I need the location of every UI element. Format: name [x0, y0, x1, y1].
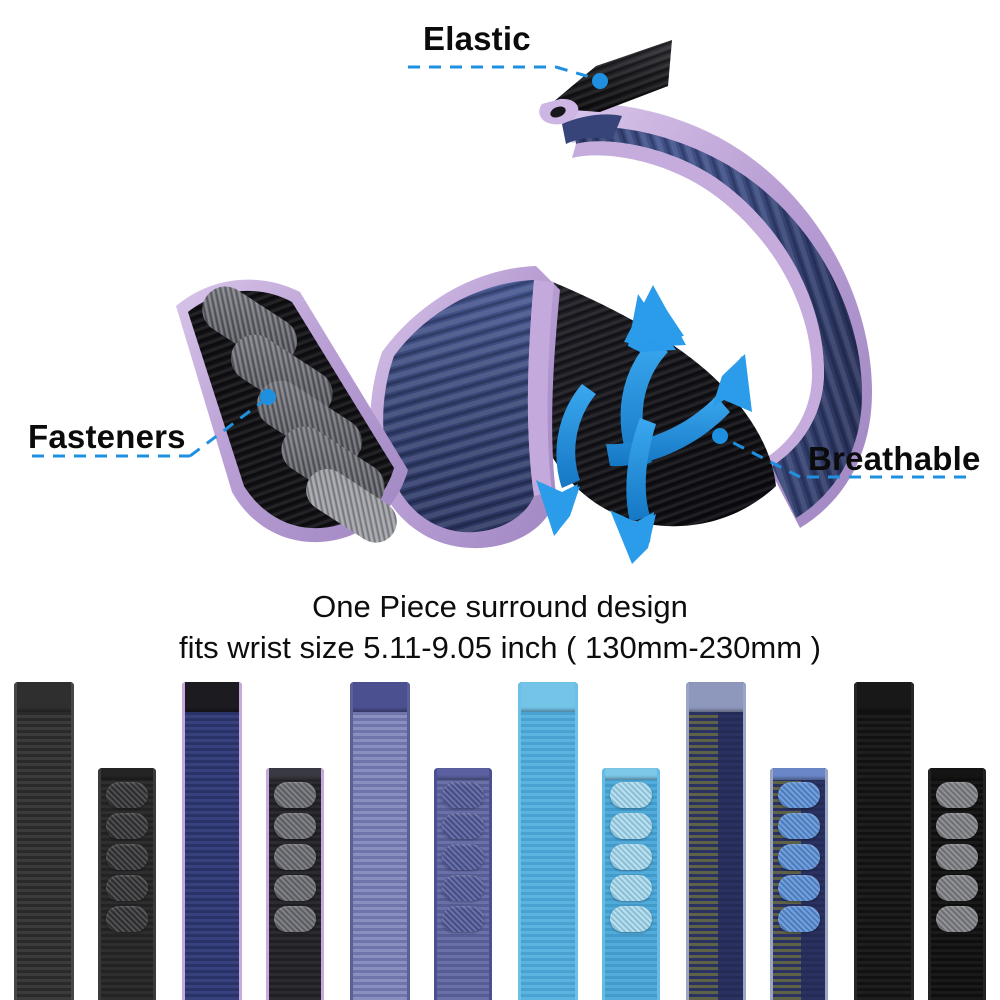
swatch-fastener-pad — [442, 844, 484, 870]
swatch-fastener-pad — [274, 782, 316, 808]
callout-dot-fasteners — [260, 389, 276, 405]
swatch-fastener-pad — [274, 875, 316, 901]
swatch-fastener-pad — [936, 813, 978, 839]
swatch-fastener-pad — [442, 906, 484, 932]
callout-label-fasteners: Fasteners — [28, 420, 186, 453]
swatch-tip — [434, 768, 492, 780]
swatch-fastener-pad — [610, 875, 652, 901]
product-infographic: Elastic Fasteners Breathable One Piece s… — [0, 0, 1000, 1000]
swatch-trim-left — [770, 768, 773, 1000]
color-swatch-sky-blue-back[interactable] — [602, 768, 660, 1000]
swatch-fastener-pad — [610, 813, 652, 839]
swatch-fastener-pads — [106, 782, 148, 937]
color-swatch-dark-gray-front[interactable] — [14, 682, 74, 1000]
swatch-tip — [518, 682, 578, 712]
swatch-fastener-pad — [274, 906, 316, 932]
swatch-fastener-pads — [442, 782, 484, 937]
color-swatch-navy-lavender-front[interactable] — [182, 682, 242, 1000]
swatch-trim-right — [407, 682, 410, 1000]
swatch-tip — [350, 682, 410, 712]
swatch-tip — [602, 768, 660, 780]
color-swatch-black-front[interactable] — [854, 682, 914, 1000]
swatch-fastener-pads — [610, 782, 652, 937]
swatch-weave-texture — [14, 682, 74, 1000]
color-swatch-olive-navy-back[interactable] — [770, 768, 828, 1000]
swatch-fastener-pad — [778, 875, 820, 901]
callout-label-elastic: Elastic — [423, 22, 531, 55]
callout-label-breathable: Breathable — [808, 442, 981, 475]
swatch-trim-right — [575, 682, 578, 1000]
swatch-fastener-pad — [106, 813, 148, 839]
swatch-trim-right — [153, 768, 156, 1000]
swatch-trim-right — [825, 768, 828, 1000]
color-swatch-olive-navy-front[interactable] — [686, 682, 746, 1000]
swatch-fastener-pad — [442, 875, 484, 901]
swatch-tip — [770, 768, 828, 780]
swatch-trim-left — [602, 768, 605, 1000]
swatch-trim-left — [518, 682, 521, 1000]
hero-product-photo: Elastic Fasteners Breathable — [0, 0, 1000, 665]
swatch-tip — [182, 682, 242, 712]
swatch-trim-left — [266, 768, 269, 1000]
callout-dot-elastic — [592, 73, 608, 89]
swatch-fastener-pad — [106, 782, 148, 808]
swatch-weave-texture — [350, 682, 410, 1000]
swatch-trim-left — [928, 768, 931, 1000]
swatch-fastener-pad — [610, 844, 652, 870]
swatch-fastener-pad — [274, 813, 316, 839]
swatch-trim-left — [434, 768, 437, 1000]
swatch-fastener-pad — [936, 875, 978, 901]
callout-leader-elastic — [408, 67, 600, 80]
swatch-fastener-pad — [106, 875, 148, 901]
swatch-trim-right — [911, 682, 914, 1000]
caption-block: One Piece surround design fits wrist siz… — [0, 586, 1000, 668]
swatch-tip — [98, 768, 156, 780]
color-swatch-periwinkle-back[interactable] — [434, 768, 492, 1000]
color-swatch-periwinkle-front[interactable] — [350, 682, 410, 1000]
color-swatch-strip — [0, 665, 1000, 1000]
swatch-fastener-pad — [106, 906, 148, 932]
swatch-fastener-pads — [778, 782, 820, 937]
swatch-trim-right — [983, 768, 986, 1000]
swatch-fastener-pads — [936, 782, 978, 937]
swatch-fastener-pad — [106, 844, 148, 870]
caption-line-2: fits wrist size 5.11-9.05 inch ( 130mm-2… — [0, 627, 1000, 668]
swatch-fastener-pad — [936, 906, 978, 932]
swatch-fastener-pad — [442, 782, 484, 808]
swatch-fastener-pad — [936, 844, 978, 870]
color-swatch-black-back[interactable] — [928, 768, 986, 1000]
swatch-weave-texture — [182, 682, 242, 1000]
swatch-trim-right — [239, 682, 242, 1000]
band-middle-segment — [370, 266, 560, 548]
swatch-tip — [928, 768, 986, 780]
callout-dot-breathable — [712, 428, 728, 444]
swatch-fastener-pad — [442, 813, 484, 839]
swatch-trim-left — [686, 682, 689, 1000]
swatch-tip — [854, 682, 914, 712]
color-swatch-sky-blue-front[interactable] — [518, 682, 578, 1000]
swatch-trim-right — [743, 682, 746, 1000]
swatch-trim-left — [182, 682, 185, 1000]
swatch-trim-right — [71, 682, 74, 1000]
swatch-fastener-pad — [778, 813, 820, 839]
swatch-weave-texture — [518, 682, 578, 1000]
color-swatch-dark-gray-back[interactable] — [98, 768, 156, 1000]
swatch-tip — [266, 768, 324, 780]
swatch-tip — [14, 682, 74, 712]
watch-band-illustration — [0, 0, 1000, 665]
swatch-fastener-pad — [778, 906, 820, 932]
swatch-weave-texture — [854, 682, 914, 1000]
swatch-fastener-pad — [274, 844, 316, 870]
swatch-fastener-pad — [778, 844, 820, 870]
swatch-trim-right — [321, 768, 324, 1000]
swatch-fastener-pad — [778, 782, 820, 808]
swatch-fastener-pad — [936, 782, 978, 808]
swatch-tip — [686, 682, 746, 712]
fastener-panel — [176, 278, 408, 551]
swatch-fastener-pad — [610, 782, 652, 808]
caption-line-1: One Piece surround design — [0, 586, 1000, 627]
swatch-trim-right — [657, 768, 660, 1000]
color-swatch-navy-lavender-back[interactable] — [266, 768, 324, 1000]
swatch-trim-left — [14, 682, 17, 1000]
swatch-fastener-pad — [610, 906, 652, 932]
swatch-fastener-pads — [274, 782, 316, 937]
swatch-trim-right — [489, 768, 492, 1000]
swatch-trim-left — [350, 682, 353, 1000]
swatch-second-tone — [718, 682, 743, 1000]
swatch-trim-left — [98, 768, 101, 1000]
swatch-trim-left — [854, 682, 857, 1000]
